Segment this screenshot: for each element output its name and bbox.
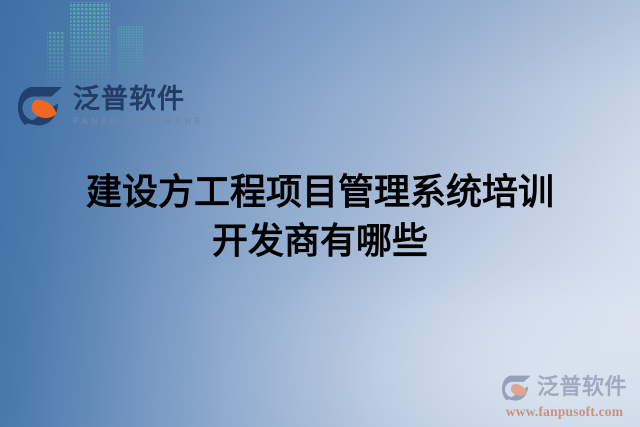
watermark-name-cn: 泛普软件 — [537, 377, 627, 399]
fanpu-logo-icon — [18, 86, 64, 126]
brand-name-cn: 泛普软件 — [73, 86, 204, 113]
banner-canvas: 泛普软件 FANPU SOFTWARE 建设方工程项目管理系统培训 开发商有哪些… — [0, 0, 640, 427]
page-title: 建设方工程项目管理系统培训 开发商有哪些 — [0, 168, 640, 266]
watermark: 泛普软件 www.fanpusoft.com — [497, 375, 632, 420]
watermark-logo-row: 泛普软件 — [502, 375, 627, 401]
fanpu-watermark-icon — [502, 375, 532, 401]
page-title-line1: 建设方工程项目管理系统培训 — [86, 172, 554, 213]
brand-name-en: FANPU SOFTWARE — [73, 117, 204, 127]
pixel-columns-decoration — [45, 0, 155, 92]
watermark-url: www.fanpusoft.com — [506, 404, 623, 420]
brand-logo: 泛普软件 FANPU SOFTWARE — [18, 86, 204, 127]
page-title-line2: 开发商有哪些 — [0, 217, 640, 266]
